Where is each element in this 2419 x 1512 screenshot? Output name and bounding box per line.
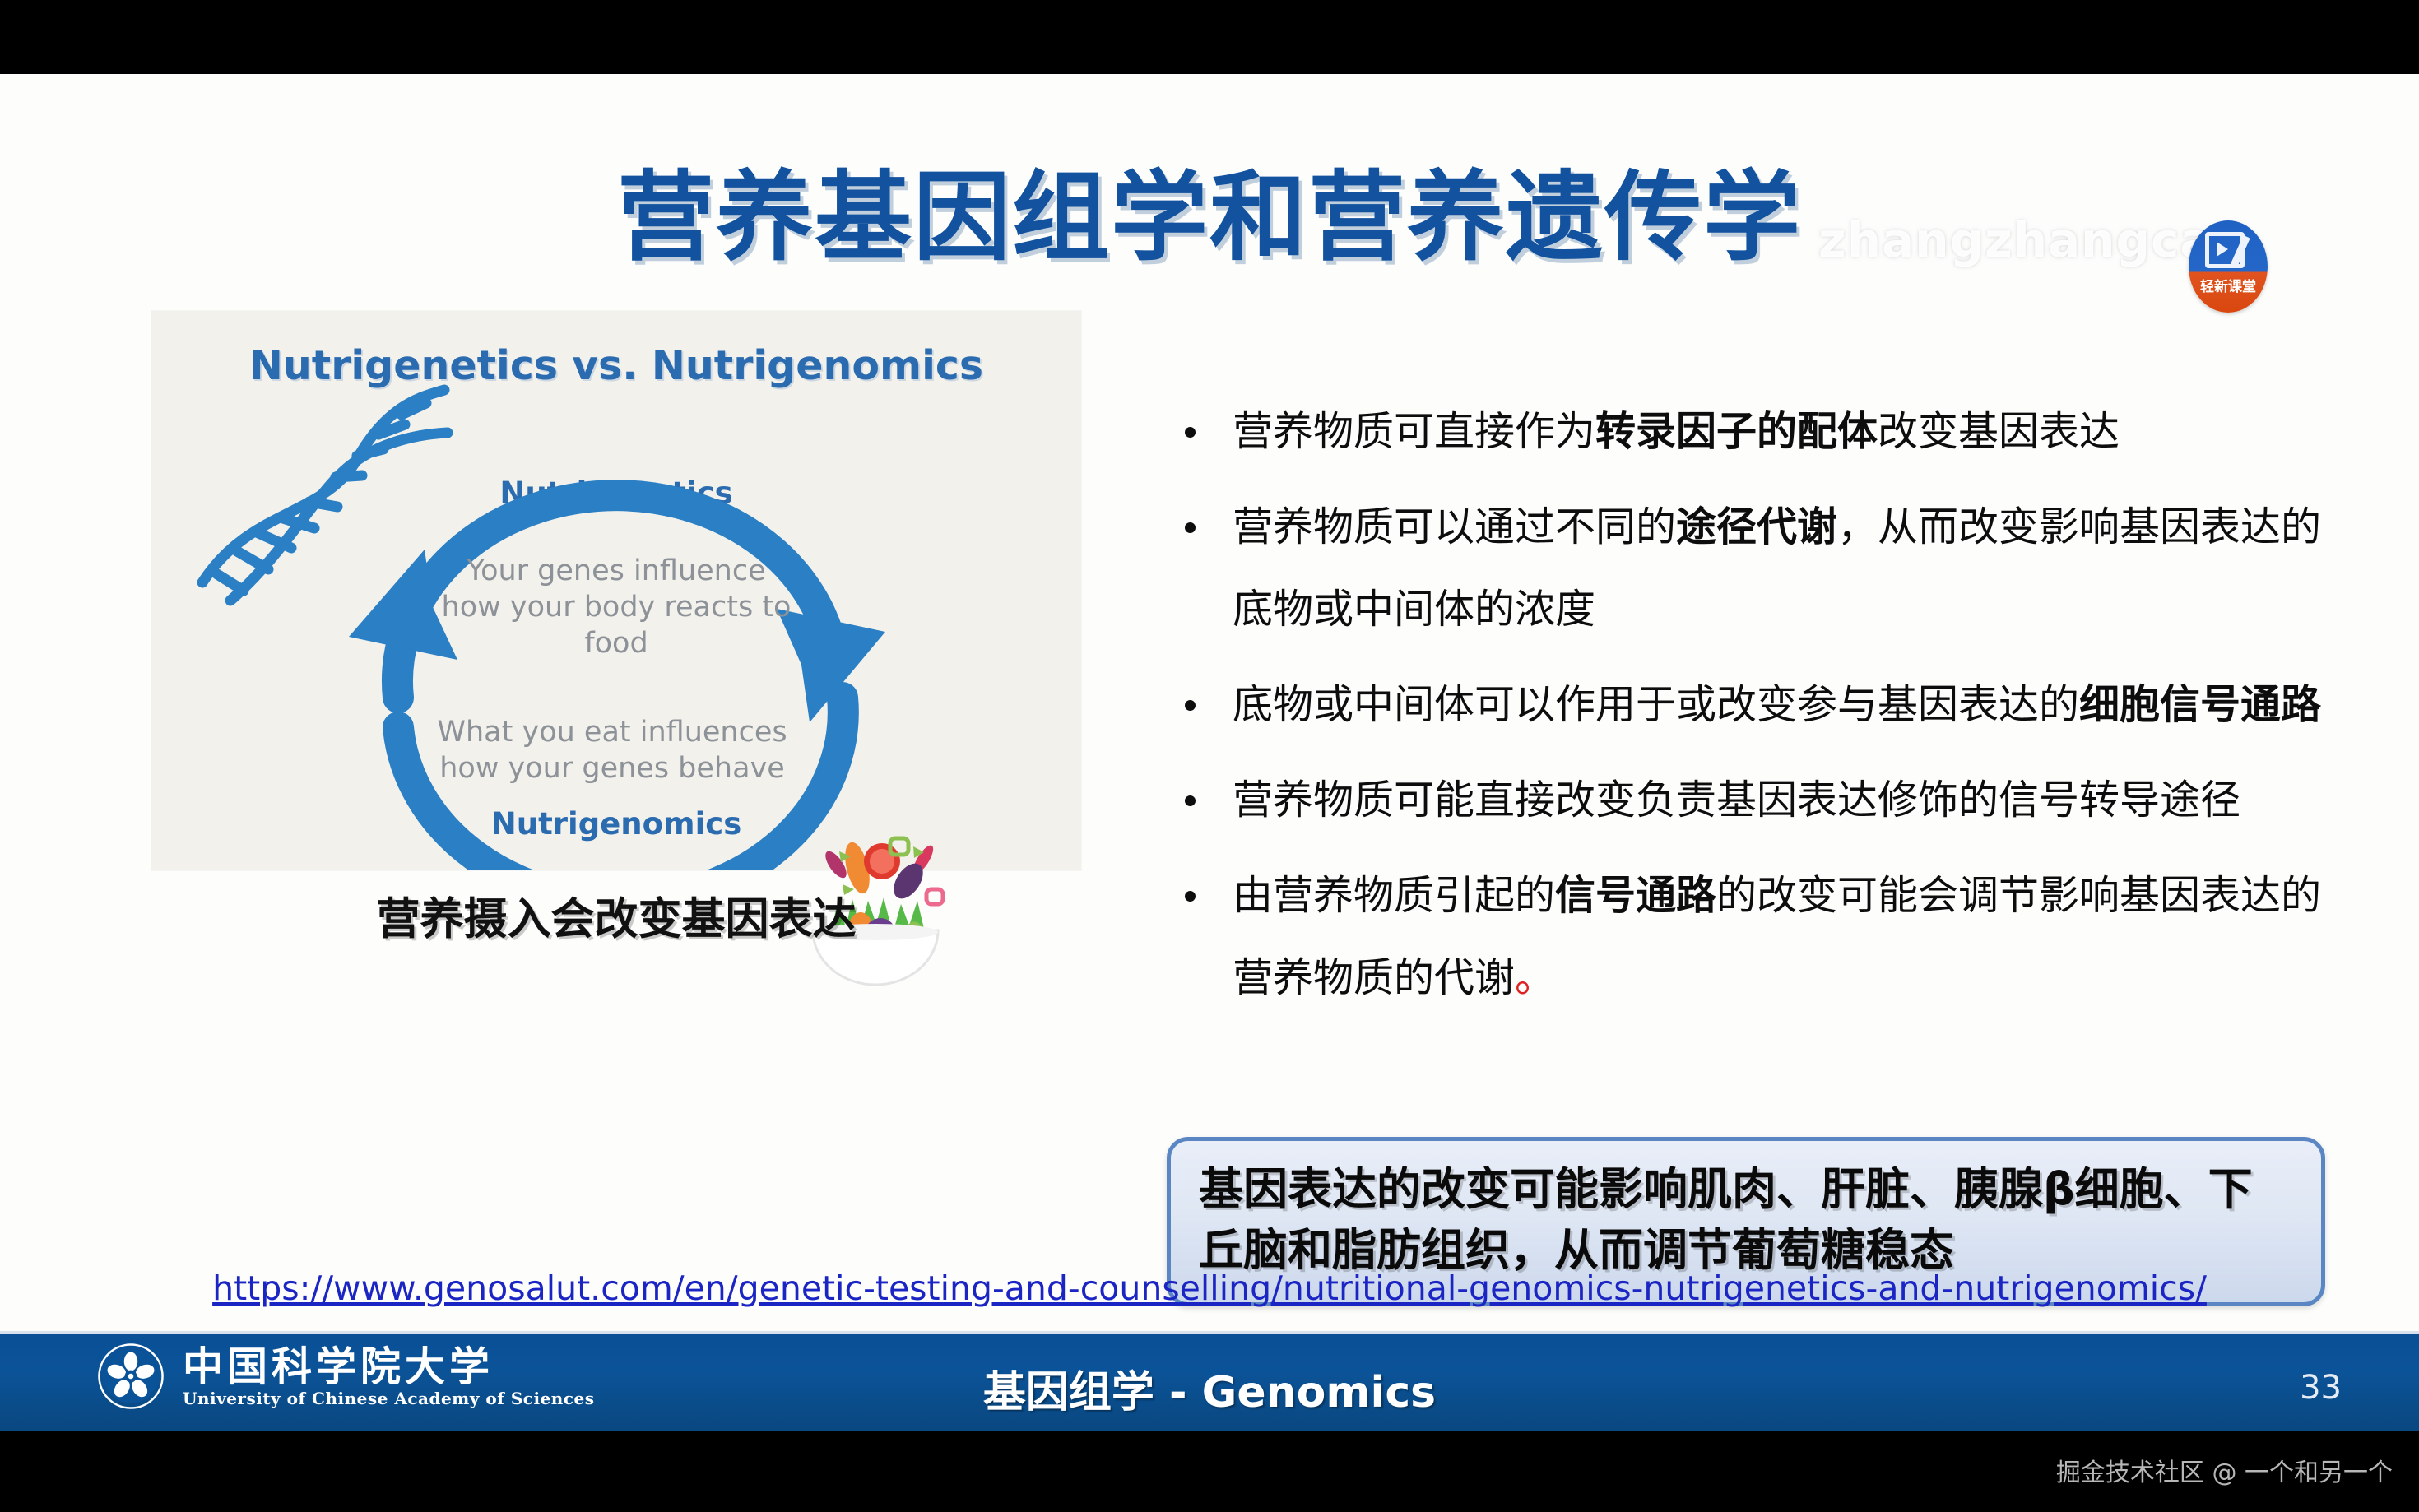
- badge-label: 轻新课堂: [2189, 275, 2268, 295]
- watermark-text: zhangzhangcas: [1818, 212, 2242, 268]
- bullet-text: 。: [1515, 954, 1555, 1001]
- bullet-item: 营养物质可直接作为转录因子的配体改变基因表达: [1168, 391, 2353, 473]
- attribution-text: 掘金技术社区 @ 一个和另一个: [2056, 1452, 2393, 1488]
- bullet-text: 营养物质可能直接改变负责基因表达修饰的信号转导途径: [1233, 777, 2240, 823]
- bullet-item: 营养物质可能直接改变负责基因表达修饰的信号转导途径: [1168, 759, 2353, 842]
- bullet-text: 营养物质可直接作为: [1233, 408, 1595, 455]
- bullet-emphasis: 转录因子的配体: [1595, 408, 1878, 455]
- source-url-link[interactable]: https://www.genosalut.com/en/genetic-tes…: [0, 1269, 2419, 1308]
- cycle-bottom-text: What you eat influences how your genes b…: [423, 714, 801, 786]
- presentation-slide: 营养基因组学和营养遗传学 zhangzhangcas 轻新课堂 Nutrigen…: [0, 74, 2419, 1431]
- footer-top-rule: [0, 1331, 2419, 1334]
- bullet-emphasis: 途径代谢: [1676, 503, 1837, 550]
- video-viewport: 营养基因组学和营养遗传学 zhangzhangcas 轻新课堂 Nutrigen…: [0, 0, 2419, 1512]
- diagram-caption: 营养摄入会改变基因表达: [151, 884, 1081, 947]
- bullet-text: 底物或中间体可以作用于或改变参与基因表达的: [1233, 681, 2079, 728]
- bullet-text: 由营养物质引起的: [1233, 872, 1555, 919]
- bullet-item: 底物或中间体可以作用于或改变参与基因表达的细胞信号通路: [1168, 664, 2353, 746]
- bullet-text: 改变基因表达: [1878, 408, 2120, 455]
- bullet-list: 营养物质可直接作为转录因子的配体改变基因表达营养物质可以通过不同的途径代谢，从而…: [1168, 391, 2353, 1032]
- bullet-emphasis: 信号通路: [1555, 872, 1716, 919]
- cycle-top-text: Your genes influence how your body react…: [439, 553, 793, 661]
- callout-text: 基因表达的改变可能影响肌肉、肝脏、胰腺β细胞、下丘脑和脂肪组织，从而调节葡萄糖稳…: [1199, 1159, 2296, 1281]
- bullet-emphasis: 细胞信号通路: [2079, 681, 2321, 728]
- bullet-item: 由营养物质引起的信号通路的改变可能会调节影响基因表达的营养物质的代谢。: [1168, 855, 2353, 1019]
- nutrigenetics-diagram-panel: Nutrigenetics vs. Nutrigenomics Nutrigen…: [151, 311, 1081, 870]
- brand-badge-icon: 轻新课堂: [2189, 220, 2268, 313]
- badge-play-shape: [2217, 242, 2228, 257]
- slide-footer-bar: 中国科学院大学 University of Chinese Academy of…: [0, 1331, 2419, 1431]
- bullet-text: 营养物质可以通过不同的: [1233, 503, 1676, 550]
- bullet-item: 营养物质可以通过不同的途径代谢，从而改变影响基因表达的底物或中间体的浓度: [1168, 486, 2353, 651]
- course-title: 基因组学 - Genomics: [0, 1357, 2419, 1419]
- letterbox-top-bar: [0, 0, 2419, 74]
- page-number: 33: [2300, 1369, 2342, 1407]
